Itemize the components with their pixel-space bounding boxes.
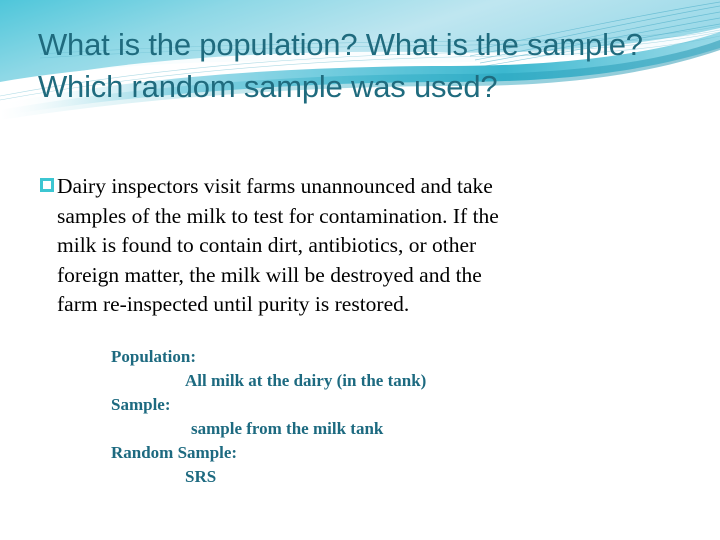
body-line: foreign matter, the milk will be destroy… <box>57 261 670 291</box>
hollow-square-bullet-icon <box>40 178 54 192</box>
random-sample-label: Random Sample: <box>111 441 631 465</box>
sample-label: Sample: <box>111 393 631 417</box>
body-line: farm re-inspected until purity is restor… <box>57 290 670 320</box>
body-line: milk is found to contain dirt, antibioti… <box>57 231 670 261</box>
sample-value: sample from the milk tank <box>111 417 631 441</box>
answer-block: Population: All milk at the dairy (in th… <box>111 345 631 489</box>
bullet-list-item: Dairy inspectors visit farms unannounced… <box>40 172 670 320</box>
body-content-placeholder: Dairy inspectors visit farms unannounced… <box>40 172 670 320</box>
bullet-item-text: Dairy inspectors visit farms unannounced… <box>56 172 670 320</box>
body-line: Dairy inspectors visit farms unannounced… <box>57 172 670 202</box>
slide-canvas: What is the population? What is the samp… <box>0 0 720 540</box>
body-line: samples of the milk to test for contamin… <box>57 202 670 232</box>
population-label: Population: <box>111 345 631 369</box>
random-sample-value: SRS <box>111 465 631 489</box>
population-value: All milk at the dairy (in the tank) <box>111 369 631 393</box>
slide-title: What is the population? What is the samp… <box>38 24 658 108</box>
